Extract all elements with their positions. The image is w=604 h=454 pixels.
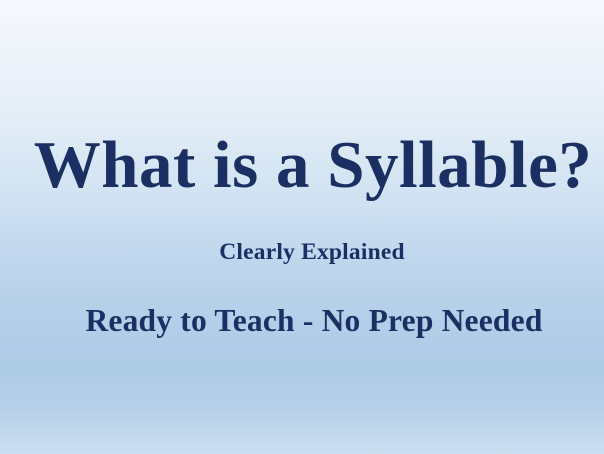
slide-subtitle: Clearly Explained	[0, 241, 604, 265]
slide-text-stack: What is a Syllable? Clearly Explained Re…	[0, 0, 604, 454]
title-slide: What is a Syllable? Clearly Explained Re…	[0, 0, 604, 454]
slide-tagline: Ready to Teach - No Prep Needed	[0, 305, 604, 337]
page-title: What is a Syllable?	[0, 132, 604, 199]
